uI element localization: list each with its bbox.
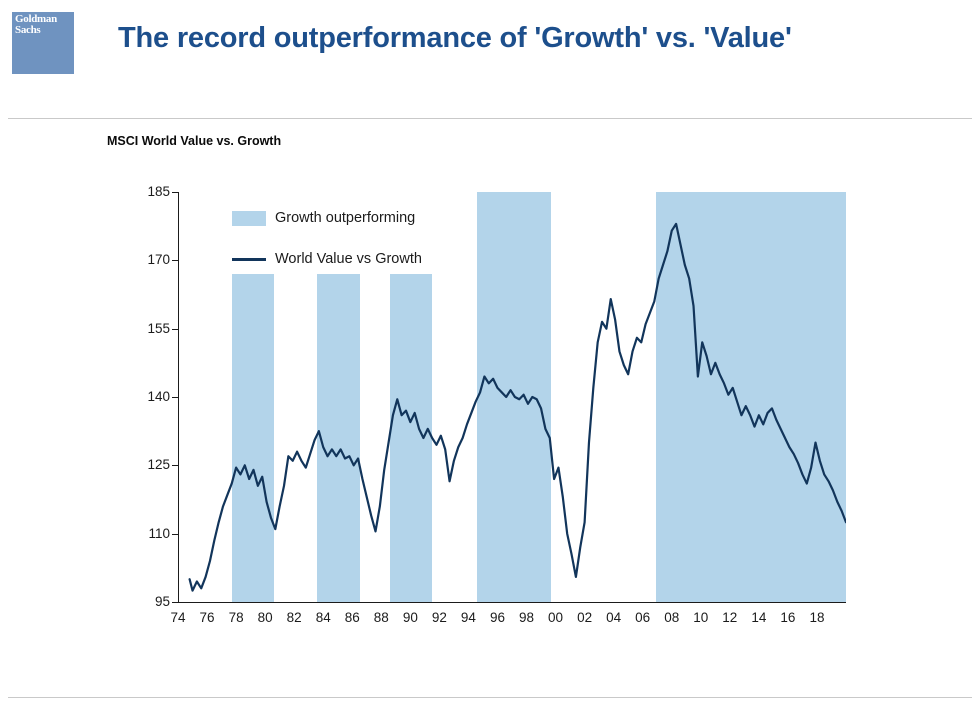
- y-tick-label-140: 140: [134, 389, 170, 404]
- legend-item-world-value-vs-growth: World Value vs Growth: [232, 245, 422, 273]
- chart-legend: Growth outperforming World Value vs Grow…: [232, 204, 422, 273]
- legend-label-0: Growth outperforming: [275, 210, 415, 226]
- legend-label-1: World Value vs Growth: [275, 251, 422, 267]
- x-tick-label-00: 00: [541, 610, 571, 625]
- x-tick-label-16: 16: [773, 610, 803, 625]
- y-tick-mark-125: [172, 465, 178, 466]
- y-axis: [178, 192, 179, 602]
- x-tick-label-86: 86: [337, 610, 367, 625]
- x-tick-label-10: 10: [686, 610, 716, 625]
- y-tick-label-170: 170: [134, 252, 170, 267]
- x-axis: [178, 602, 846, 603]
- x-tick-label-92: 92: [424, 610, 454, 625]
- y-tick-mark-185: [172, 192, 178, 193]
- x-tick-label-02: 02: [570, 610, 600, 625]
- x-tick-label-08: 08: [657, 610, 687, 625]
- x-tick-label-96: 96: [482, 610, 512, 625]
- x-tick-label-74: 74: [163, 610, 193, 625]
- y-tick-mark-170: [172, 260, 178, 261]
- x-tick-label-90: 90: [395, 610, 425, 625]
- y-tick-label-110: 110: [134, 526, 170, 541]
- legend-line-swatch: [232, 258, 266, 261]
- y-tick-label-95: 95: [134, 594, 170, 609]
- y-tick-label-185: 185: [134, 184, 170, 199]
- legend-band-swatch: [232, 211, 266, 226]
- x-tick-label-18: 18: [802, 610, 832, 625]
- y-tick-mark-155: [172, 329, 178, 330]
- x-tick-label-12: 12: [715, 610, 745, 625]
- x-tick-label-14: 14: [744, 610, 774, 625]
- logo-line-2: Sachs: [15, 25, 74, 36]
- goldman-sachs-logo: Goldman Sachs: [12, 12, 74, 74]
- x-tick-label-80: 80: [250, 610, 280, 625]
- chart-title: MSCI World Value vs. Growth: [107, 134, 281, 148]
- x-tick-label-84: 84: [308, 610, 338, 625]
- chart-plot-area: 95110125140155170185 Growth outperformin…: [0, 160, 980, 640]
- footer-divider: [8, 697, 972, 698]
- x-tick-label-78: 78: [221, 610, 251, 625]
- y-axis-tick-labels: 95110125140155170185: [130, 192, 170, 602]
- x-tick-label-04: 04: [599, 610, 629, 625]
- x-tick-label-76: 76: [192, 610, 222, 625]
- y-tick-label-125: 125: [134, 457, 170, 472]
- y-tick-mark-95: [172, 602, 178, 603]
- x-tick-label-88: 88: [366, 610, 396, 625]
- y-tick-mark-140: [172, 397, 178, 398]
- x-tick-label-82: 82: [279, 610, 309, 625]
- header-divider: [8, 118, 972, 119]
- x-tick-label-94: 94: [453, 610, 483, 625]
- y-tick-mark-110: [172, 534, 178, 535]
- page-title: The record outperformance of 'Growth' vs…: [118, 18, 908, 58]
- legend-item-growth-outperforming: Growth outperforming: [232, 204, 422, 232]
- y-tick-label-155: 155: [134, 321, 170, 336]
- slide-header: Goldman Sachs The record outperformance …: [0, 0, 980, 118]
- x-tick-label-06: 06: [628, 610, 658, 625]
- x-tick-label-98: 98: [512, 610, 542, 625]
